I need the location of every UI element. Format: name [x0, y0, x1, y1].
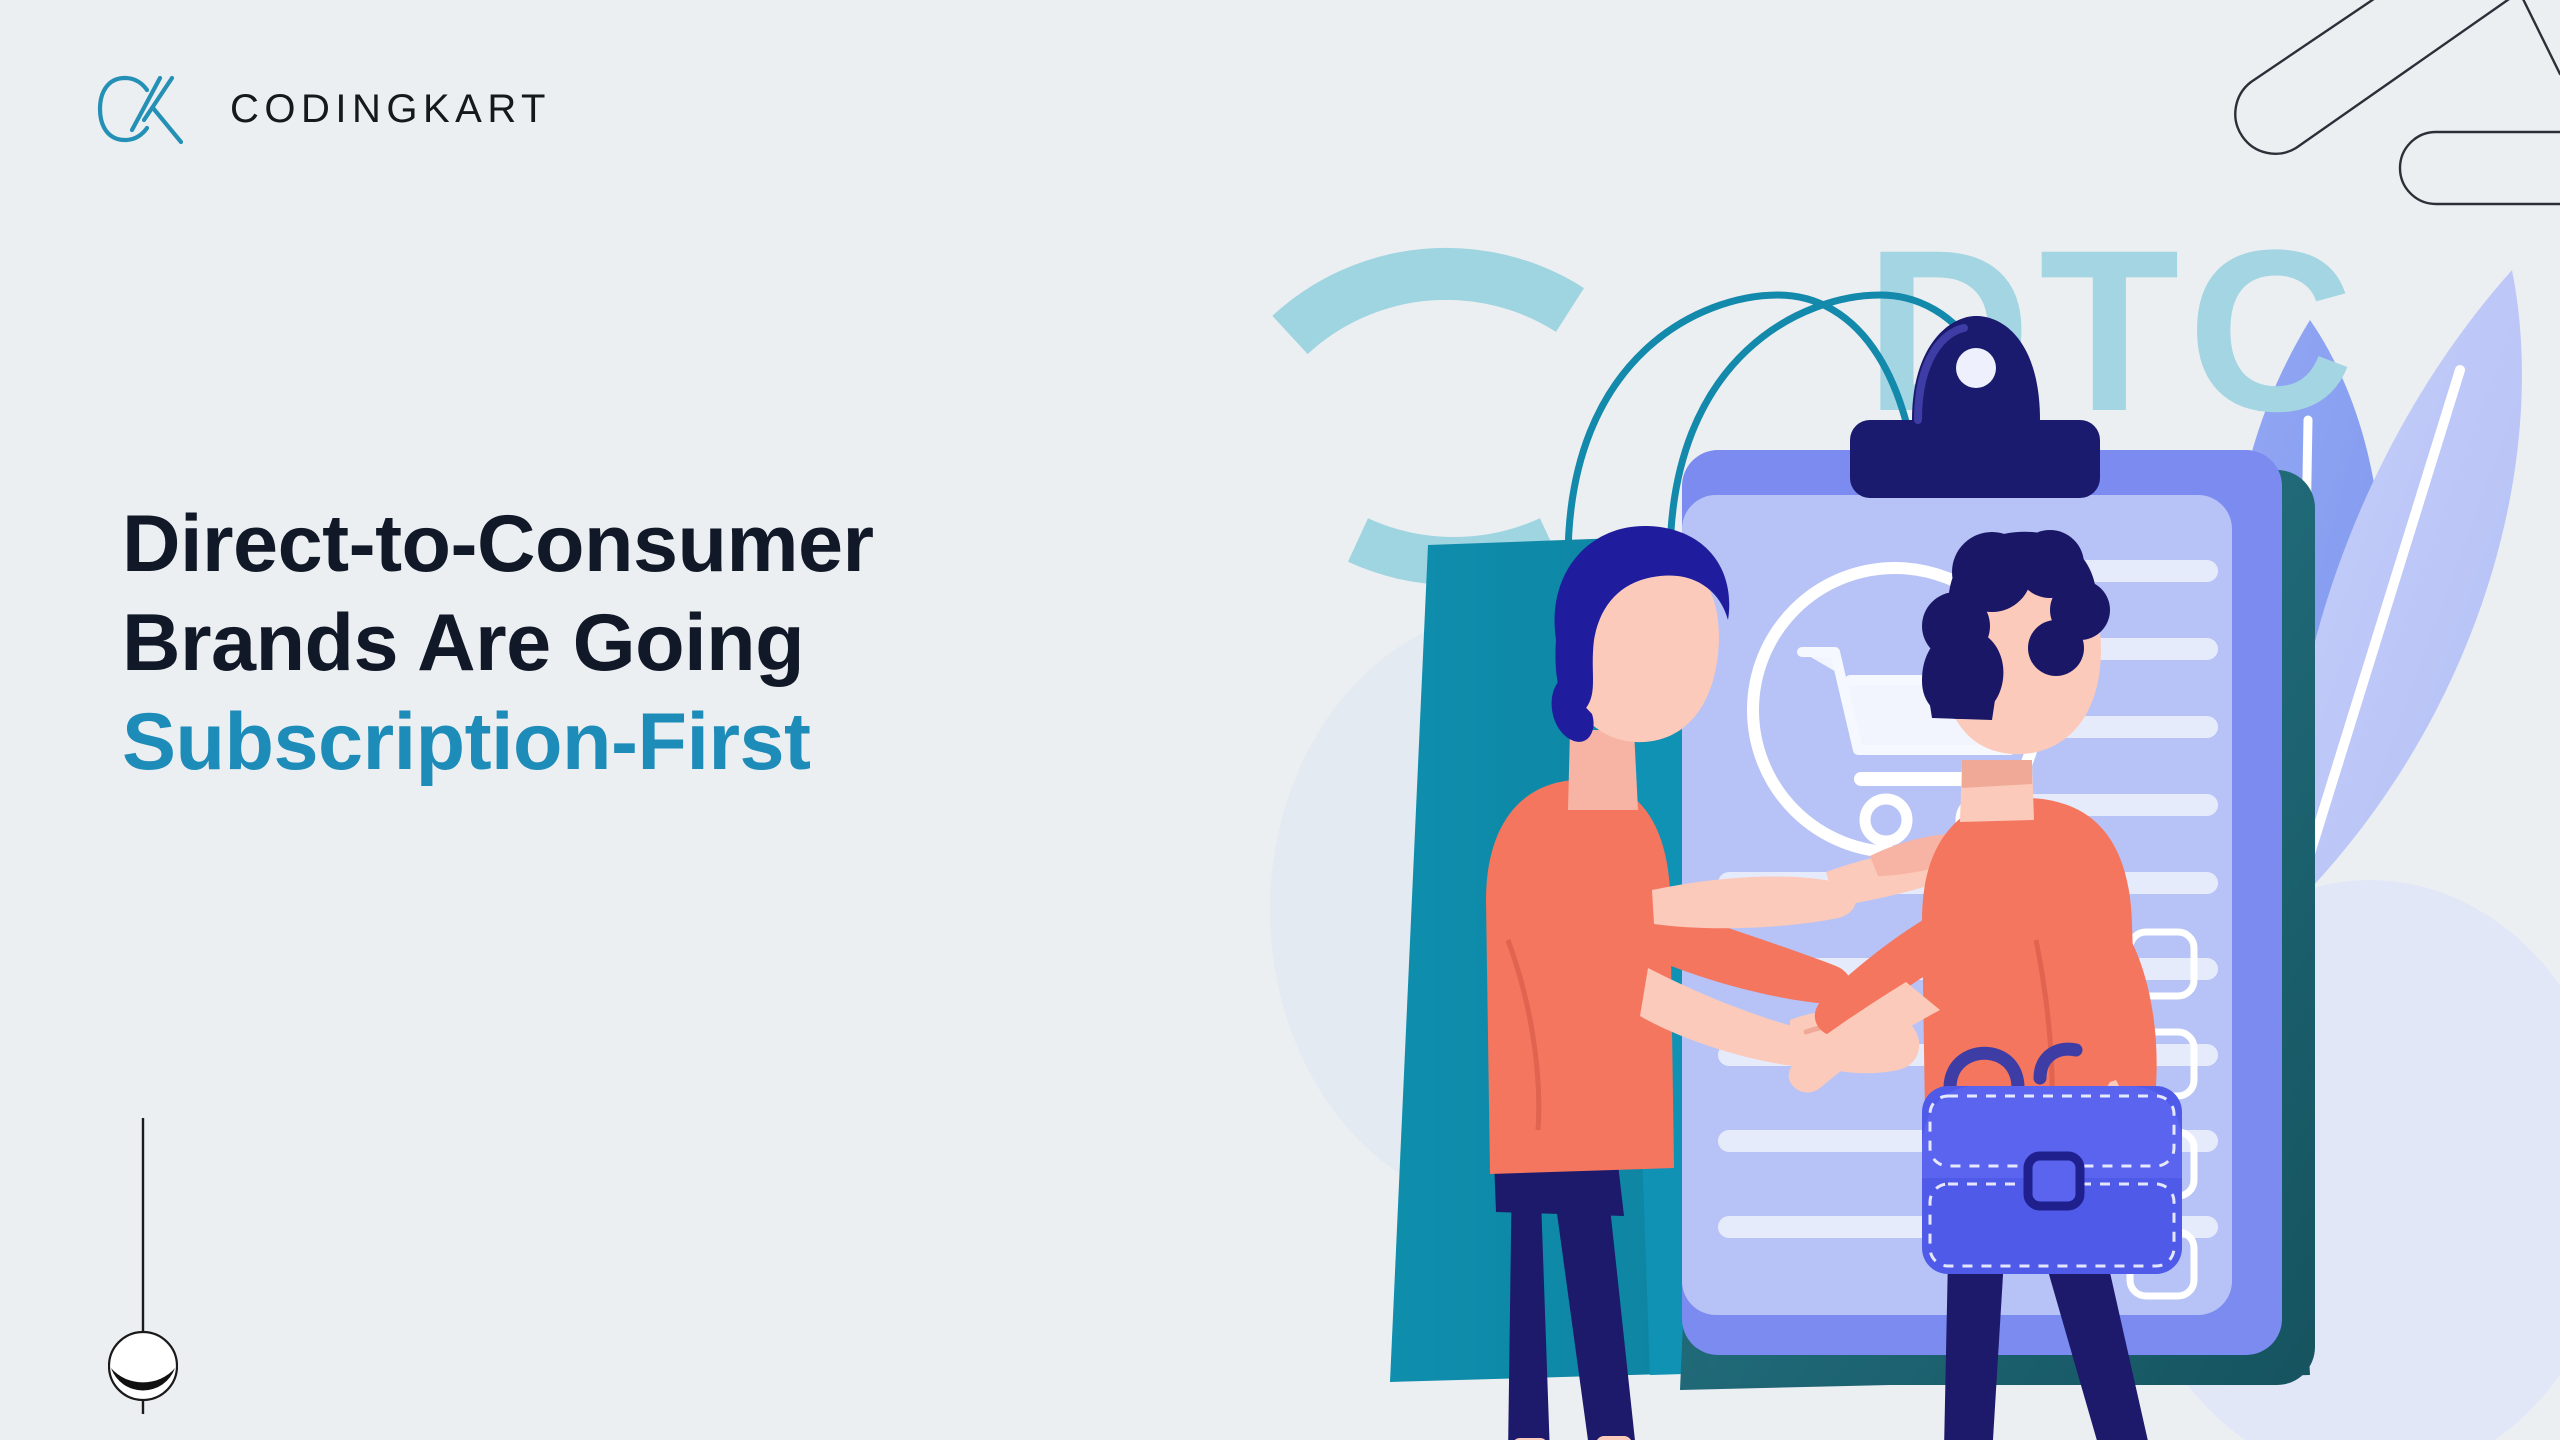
poster-canvas: CODINGKART Direct-to-Consumer Brands Are… — [0, 0, 2560, 1440]
dtc-handshake-illustration: DTC — [1250, 120, 2560, 1440]
pendulum-decoration — [108, 1118, 178, 1418]
brand-name: CODINGKART — [230, 87, 551, 132]
teal-arc-accent — [1290, 274, 1570, 561]
headline-line-3: Subscription-First — [122, 693, 1252, 792]
brand-logo[interactable]: CODINGKART — [92, 68, 551, 150]
headline-line-2: Brands Are Going — [122, 594, 1252, 693]
ck-monogram-icon — [92, 68, 204, 150]
headline-line-1: Direct-to-Consumer — [122, 495, 1252, 594]
page-title: Direct-to-Consumer Brands Are Going Subs… — [122, 495, 1252, 792]
